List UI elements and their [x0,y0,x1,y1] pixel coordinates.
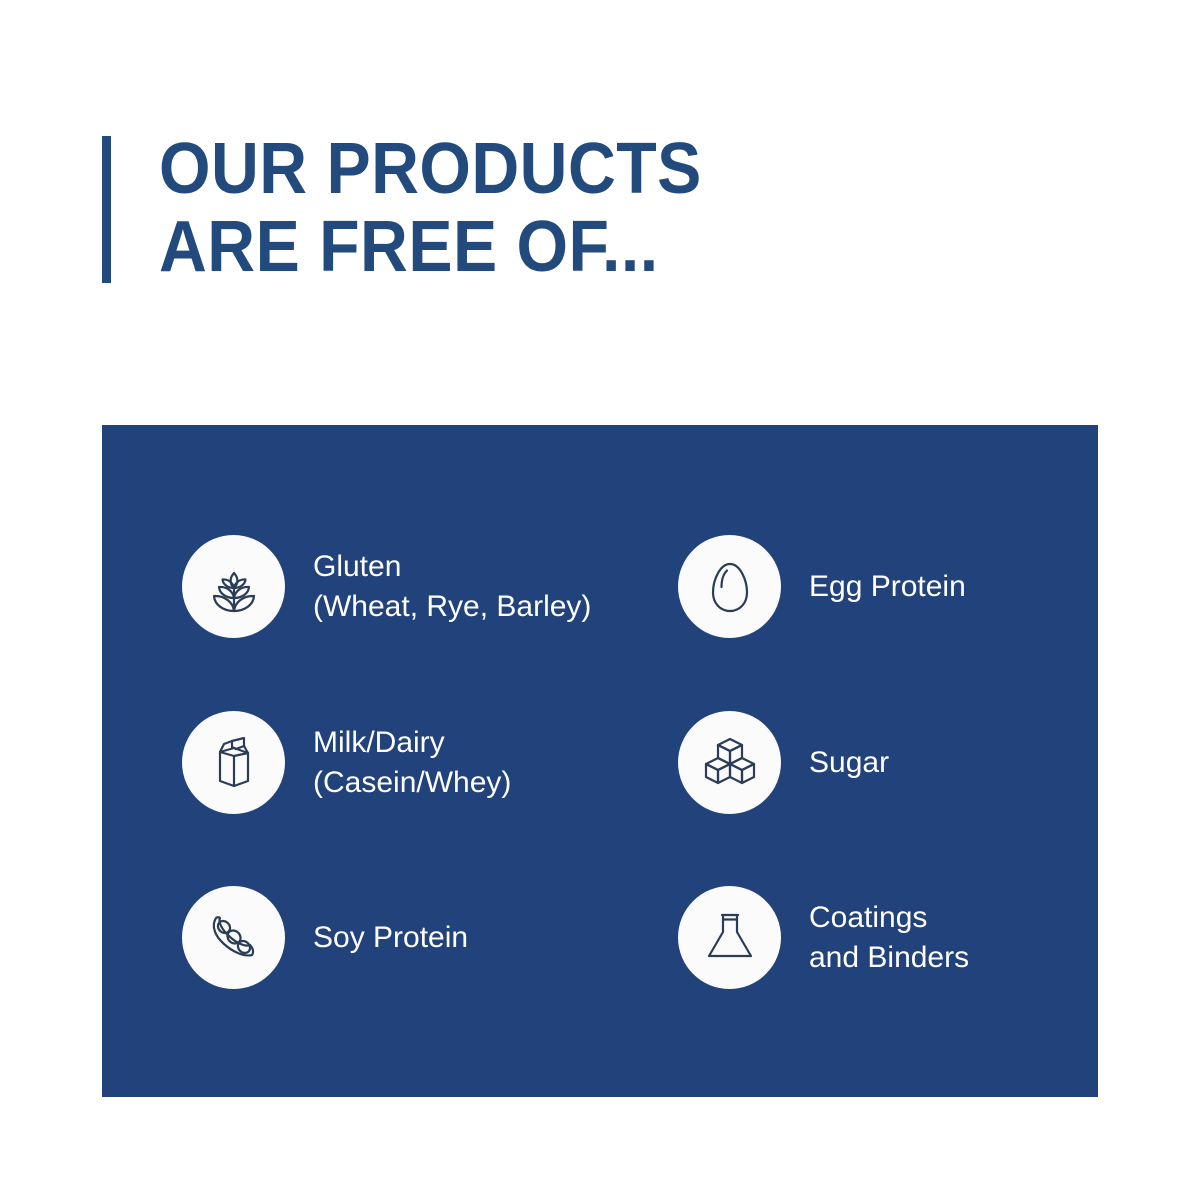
poster-canvas: OUR PRODUCTS ARE FREE OF... [0,0,1200,1200]
title-line-1: OUR PRODUCTS [159,130,702,208]
free-of-grid: Gluten (Wheat, Rye, Barley) Egg Protein [102,425,1098,1097]
milk-carton-icon [182,711,285,814]
list-item-label: Soy Protein [313,918,468,958]
list-item-label: Milk/Dairy (Casein/Whey) [313,723,511,803]
page-title: OUR PRODUCTS ARE FREE OF... [102,136,749,286]
free-of-panel: Gluten (Wheat, Rye, Barley) Egg Protein [102,425,1098,1097]
list-item-milk-dairy: Milk/Dairy (Casein/Whey) [182,711,511,814]
list-item-label: Sugar [809,743,889,783]
list-item-soy-protein: Soy Protein [182,886,468,989]
title-text-group: OUR PRODUCTS ARE FREE OF... [159,130,749,286]
list-item-coatings-and-binders: Coatings and Binders [678,886,969,989]
wheat-icon [182,535,285,638]
list-item-label: Egg Protein [809,567,966,607]
title-line-2: ARE FREE OF... [159,208,702,286]
list-item-sugar: Sugar [678,711,889,814]
soybean-pod-icon [182,886,285,989]
list-item-label: Coatings and Binders [809,898,969,978]
list-item-gluten: Gluten (Wheat, Rye, Barley) [182,535,591,638]
title-accent-bar [102,136,111,283]
list-item-egg-protein: Egg Protein [678,535,966,638]
flask-icon [678,886,781,989]
list-item-label: Gluten (Wheat, Rye, Barley) [313,547,591,627]
sugar-cubes-icon [678,711,781,814]
egg-icon [678,535,781,638]
